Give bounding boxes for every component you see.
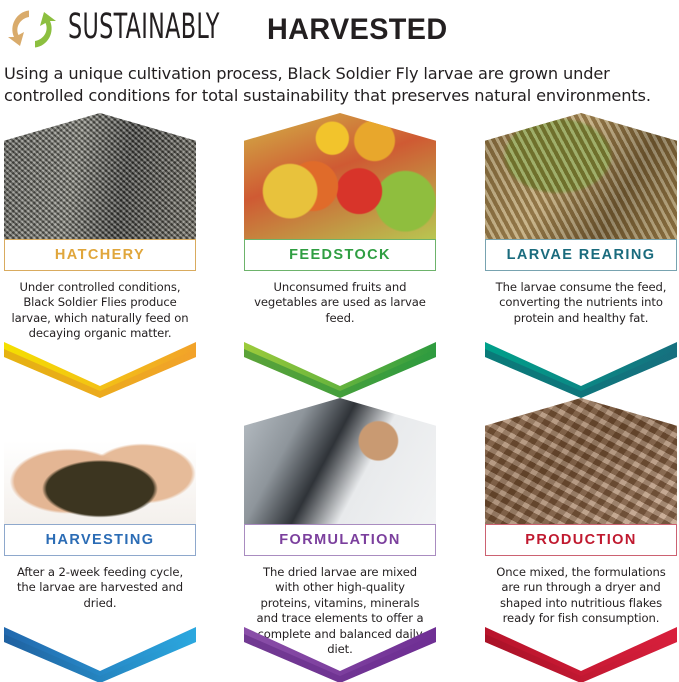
- steps-row-bottom: HARVESTING After a 2-week feeding cycle,…: [0, 398, 679, 682]
- step-label-formulation: FORMULATION: [279, 532, 400, 548]
- chevron-wrap-production: [485, 621, 677, 682]
- step-label-plate-production: PRODUCTION: [485, 524, 677, 556]
- step-label-plate-harvesting: HARVESTING: [4, 524, 196, 556]
- step-label-larvae-rearing: LARVAE REARING: [507, 247, 656, 263]
- infographic-page: SUSTAINABLY HARVESTED Using a unique cul…: [0, 0, 679, 682]
- chevron-arrow-feedstock: [244, 336, 436, 398]
- process-steps-grid: HATCHERY Under controlled conditions, Bl…: [0, 113, 679, 682]
- intro-paragraph: Using a unique cultivation process, Blac…: [4, 63, 676, 106]
- step-label-plate-larvae-rearing: LARVAE REARING: [485, 239, 677, 271]
- brand-word-sustainably: SUSTAINABLY: [68, 7, 220, 47]
- step-label-plate-formulation: FORMULATION: [244, 524, 436, 556]
- formulation-lab-photo: [244, 398, 436, 524]
- step-card-larvae-rearing[interactable]: LARVAE REARING The larvae consume the fe…: [485, 113, 677, 398]
- step-card-production[interactable]: PRODUCTION Once mixed, the formulations …: [485, 398, 677, 682]
- larvae-rearing-photo: [485, 113, 677, 239]
- brand-word-harvested: HARVESTED: [267, 13, 448, 47]
- steps-row-top: HATCHERY Under controlled conditions, Bl…: [0, 113, 679, 398]
- step-card-feedstock[interactable]: FEEDSTOCK Unconsumed fruits and vegetabl…: [244, 113, 436, 398]
- harvesting-hands-photo: [4, 398, 196, 524]
- step-card-formulation[interactable]: FORMULATION The dried larvae are mixed w…: [244, 398, 436, 682]
- recycle-arrows-icon: [6, 6, 58, 52]
- chevron-wrap-harvesting: [4, 621, 196, 682]
- step-description-production: Once mixed, the formulations are run thr…: [485, 556, 677, 627]
- step-description-hatchery: Under controlled conditions, Black Soldi…: [4, 271, 196, 342]
- chevron-arrow-hatchery: [4, 336, 196, 398]
- production-flakes-photo: [485, 398, 677, 524]
- step-label-production: PRODUCTION: [525, 532, 636, 548]
- chevron-arrow-formulation: [244, 621, 436, 682]
- chevron-wrap-feedstock: [244, 336, 436, 398]
- chevron-arrow-larvae-rearing: [485, 336, 677, 398]
- feedstock-produce-photo: [244, 113, 436, 239]
- step-card-hatchery[interactable]: HATCHERY Under controlled conditions, Bl…: [4, 113, 196, 398]
- hatchery-netting-photo: [4, 113, 196, 239]
- brand-wordmark: SUSTAINABLY HARVESTED: [68, 11, 455, 47]
- chevron-arrow-harvesting: [4, 621, 196, 682]
- step-card-harvesting[interactable]: HARVESTING After a 2-week feeding cycle,…: [4, 398, 196, 682]
- chevron-wrap-larvae-rearing: [485, 336, 677, 398]
- step-description-larvae-rearing: The larvae consume the feed, converting …: [485, 271, 677, 326]
- chevron-arrow-production: [485, 621, 677, 682]
- step-description-feedstock: Unconsumed fruits and vegetables are use…: [244, 271, 436, 326]
- step-label-hatchery: HATCHERY: [55, 247, 145, 263]
- step-label-plate-feedstock: FEEDSTOCK: [244, 239, 436, 271]
- brand-header: SUSTAINABLY HARVESTED: [0, 0, 679, 58]
- chevron-wrap-hatchery: [4, 336, 196, 398]
- step-label-harvesting: HARVESTING: [46, 532, 155, 548]
- step-description-harvesting: After a 2-week feeding cycle, the larvae…: [4, 556, 196, 611]
- step-label-plate-hatchery: HATCHERY: [4, 239, 196, 271]
- step-label-feedstock: FEEDSTOCK: [289, 247, 391, 263]
- chevron-wrap-formulation: [244, 621, 436, 682]
